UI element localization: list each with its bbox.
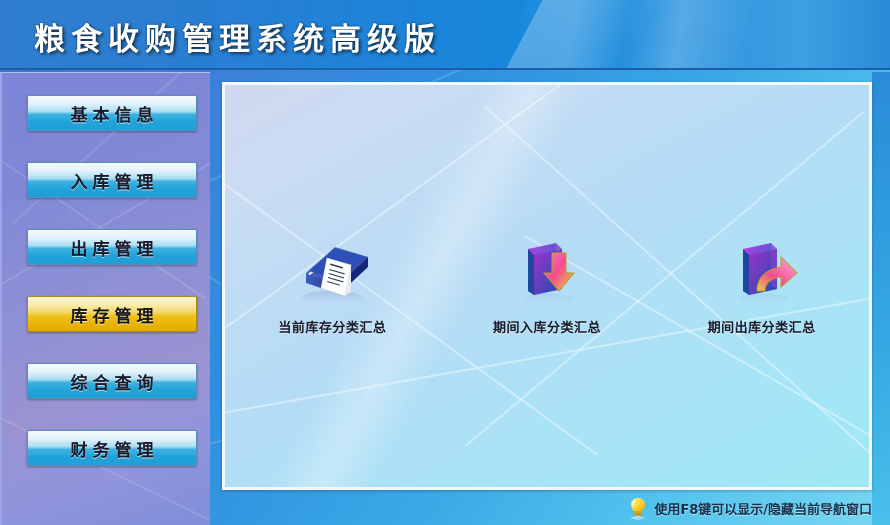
status-bar: 使用F8键可以显示/隐藏当前导航窗口 [222, 492, 890, 525]
shortcut-period-outbound-summary[interactable]: 期间出库分类汇总 [654, 235, 869, 415]
folder-down-arrow-icon [504, 235, 590, 311]
sidebar-item-outbound[interactable]: 出库管理 [27, 229, 197, 265]
shortcut-period-inbound-summary[interactable]: 期间入库分类汇总 [440, 235, 655, 415]
shortcut-label: 当前库存分类汇总 [278, 317, 386, 336]
blue-book-icon [289, 235, 375, 311]
sidebar-navigation: 基本信息 入库管理 出库管理 库存管理 综合查询 财务管理 [0, 72, 210, 525]
sidebar-item-inbound[interactable]: 入库管理 [27, 162, 197, 198]
sidebar-item-label: 入库管理 [66, 168, 159, 193]
shortcut-label: 期间出库分类汇总 [708, 317, 816, 336]
shortcut-icon-grid: 当前库存分类汇总 [225, 235, 869, 415]
sidebar-item-label: 基本信息 [66, 101, 159, 126]
status-message: 使用F8键可以显示/隐藏当前导航窗口 [654, 499, 872, 518]
sidebar-item-finance[interactable]: 财务管理 [27, 430, 197, 466]
sidebar-item-label: 财务管理 [66, 436, 159, 461]
sidebar-item-basic-info[interactable]: 基本信息 [27, 95, 197, 131]
folder-out-arrow-icon [719, 235, 805, 311]
lightbulb-icon [627, 497, 649, 521]
sidebar-item-label: 综合查询 [66, 369, 159, 394]
page-title: 粮食收购管理系统高级版 [34, 14, 441, 59]
right-edge-strip [872, 72, 890, 525]
app-header: 粮食收购管理系统高级版 [0, 0, 890, 70]
sidebar-item-label: 库存管理 [66, 302, 159, 327]
shortcut-current-inventory-summary[interactable]: 当前库存分类汇总 [225, 235, 440, 415]
sidebar-item-inventory[interactable]: 库存管理 [27, 296, 197, 332]
sidebar-item-label: 出库管理 [66, 235, 159, 260]
shortcut-label: 期间入库分类汇总 [493, 317, 601, 336]
application-window: 粮食收购管理系统高级版 基本信息 入库管理 出库管理 库存管理 综合查询 财务管… [0, 0, 890, 525]
main-content-panel: 当前库存分类汇总 [222, 82, 872, 490]
sidebar-item-query[interactable]: 综合查询 [27, 363, 197, 399]
